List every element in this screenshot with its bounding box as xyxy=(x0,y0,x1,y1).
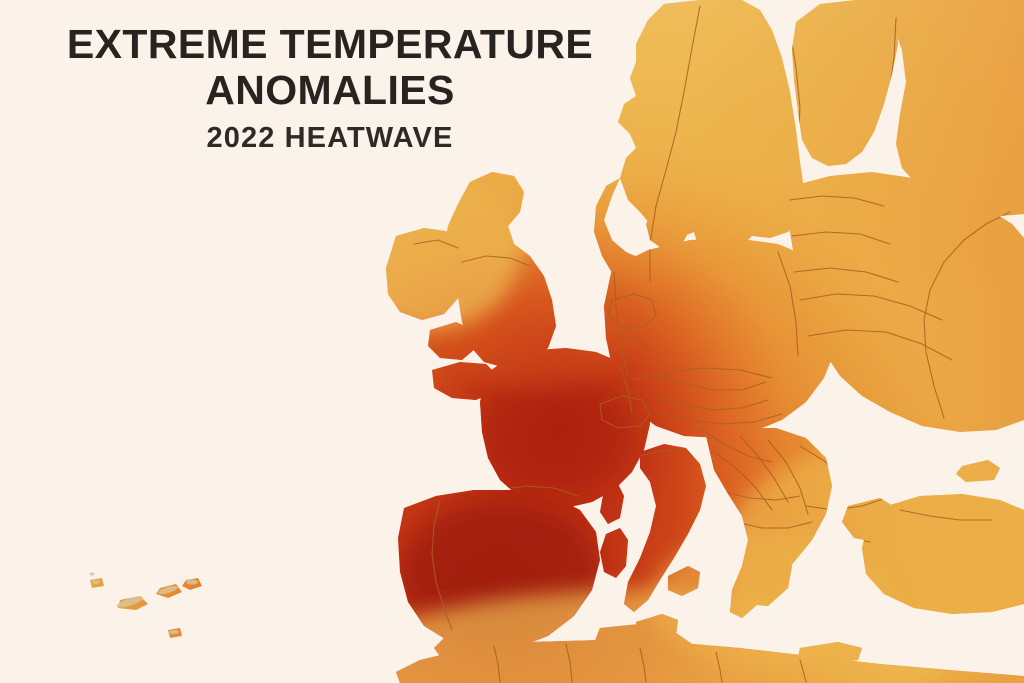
temperature-anomaly-poster: EXTREME TEMPERATURE ANOMALIES 2022 HEATW… xyxy=(0,0,1024,683)
europe-heat-map xyxy=(0,0,1024,683)
map-svg xyxy=(0,0,1024,683)
